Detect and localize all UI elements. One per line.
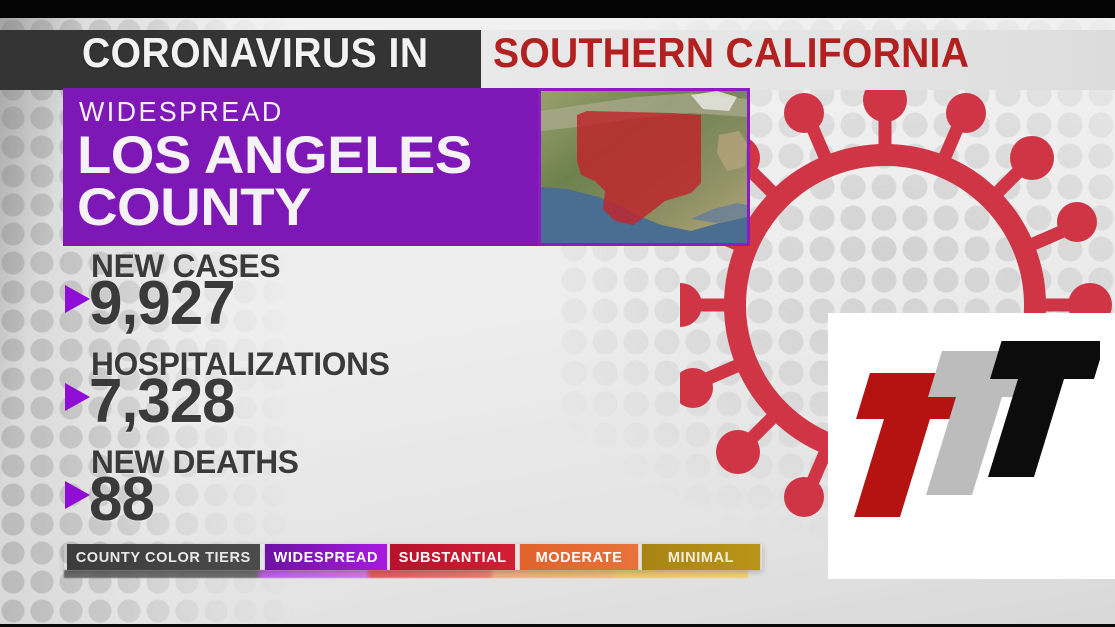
tier-legend-substantial: SUBSTANTIAL [390,544,515,570]
statistics-list: NEW CASES 9,927 HOSPITALIZATIONS 7,328 N… [63,248,683,536]
county-name-line-1: LOS ANGELES [77,130,472,182]
station-logo-card [828,313,1115,579]
header-title-secondary: SOUTHERN CALIFORNIA [493,32,969,74]
stat-row-new-cases: NEW CASES 9,927 [63,248,683,346]
stat-row-new-deaths: NEW DEATHS 88 [63,444,683,536]
tier-legend-widespread: WIDESPREAD [264,544,386,570]
tier-legend-moderate: MODERATE [519,544,637,570]
purple-triangle-icon [65,285,90,313]
county-name-line-2: COUNTY [77,182,472,234]
logo-letter-black [988,341,1100,477]
ttt-logo-icon [842,341,1100,551]
stat-value: 9,927 [89,273,235,335]
county-map-thumbnail [538,88,750,246]
broadcast-screen: CORONAVIRUS IN SOUTHERN CALIFORNIA WIDES… [0,0,1115,627]
header-title-primary: CORONAVIRUS IN [82,32,428,74]
purple-triangle-icon [65,481,90,509]
stat-row-hospitalizations: HOSPITALIZATIONS 7,328 [63,346,683,444]
tier-bar-glow [64,570,748,578]
stat-value: 7,328 [89,371,235,433]
letterbox-top-bar [0,0,1115,18]
tier-legend-heading: COUNTY COLOR TIERS [67,544,260,570]
county-color-tier-legend: COUNTY COLOR TIERS WIDESPREAD SUBSTANTIA… [64,544,762,570]
map-graphic [541,91,747,243]
county-name: LOS ANGELES COUNTY [77,130,472,234]
stat-value: 88 [89,469,154,531]
tier-legend-minimal: MINIMAL [641,544,759,570]
county-tier-label: WIDESPREAD [79,98,284,126]
purple-triangle-icon [65,383,90,411]
